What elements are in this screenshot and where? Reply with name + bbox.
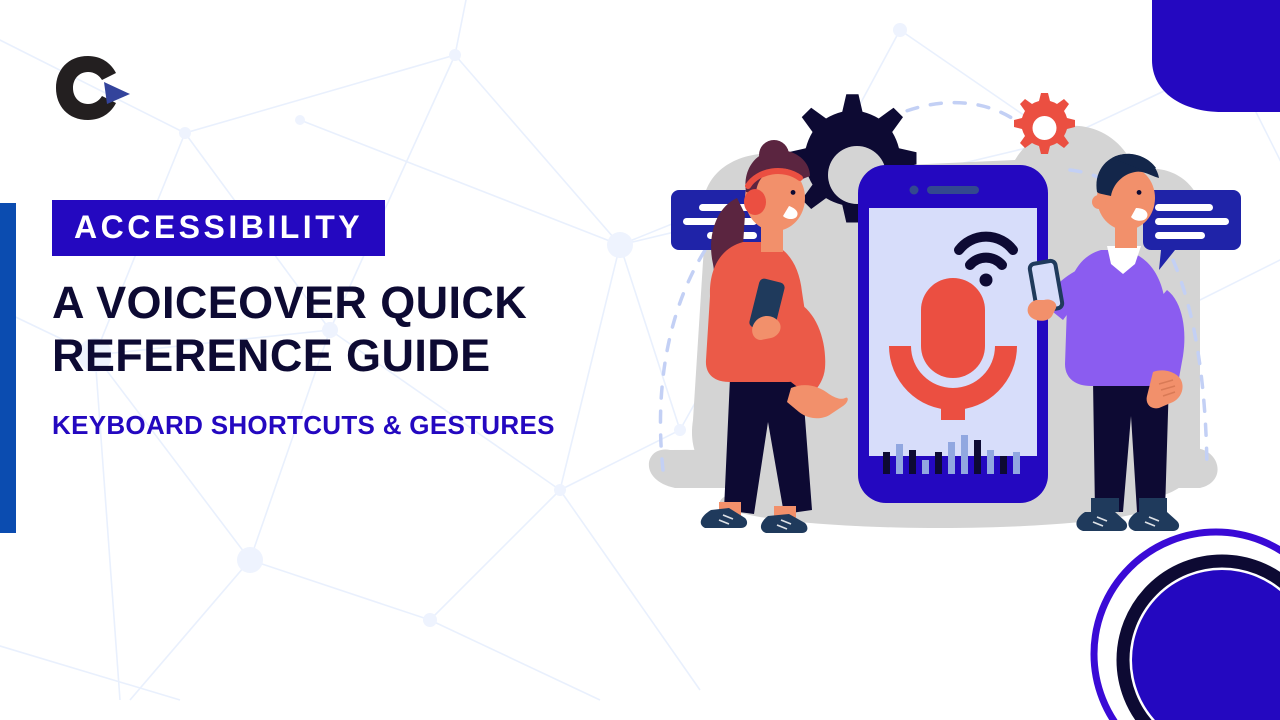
- gear-icon-red: [1014, 93, 1075, 154]
- category-badge: ACCESSIBILITY: [52, 200, 385, 256]
- smartphone-mockup: [858, 165, 1048, 503]
- bubble-line: [1155, 232, 1205, 239]
- page-title: A VOICEOVER QUICK REFERENCE GUIDE: [52, 277, 632, 382]
- shoe: [1128, 512, 1179, 531]
- page-subtitle: KEYBOARD SHORTCUTS & GESTURES: [52, 409, 632, 443]
- phone-speaker: [927, 186, 979, 194]
- bubble-line: [1155, 204, 1213, 211]
- c-play-logo[interactable]: [52, 52, 136, 124]
- hero-text-block: ACCESSIBILITY A VOICEOVER QUICK REFERENC…: [52, 200, 632, 443]
- pant-cuff: [1139, 498, 1167, 512]
- left-accent-bar: [0, 203, 16, 533]
- poster-canvas: ACCESSIBILITY A VOICEOVER QUICK REFERENC…: [0, 0, 1280, 720]
- pant-cuff: [1091, 498, 1119, 512]
- headphone-cup: [744, 189, 766, 215]
- voice-assistant-illustration: [615, 50, 1255, 610]
- bubble-line: [1155, 218, 1229, 225]
